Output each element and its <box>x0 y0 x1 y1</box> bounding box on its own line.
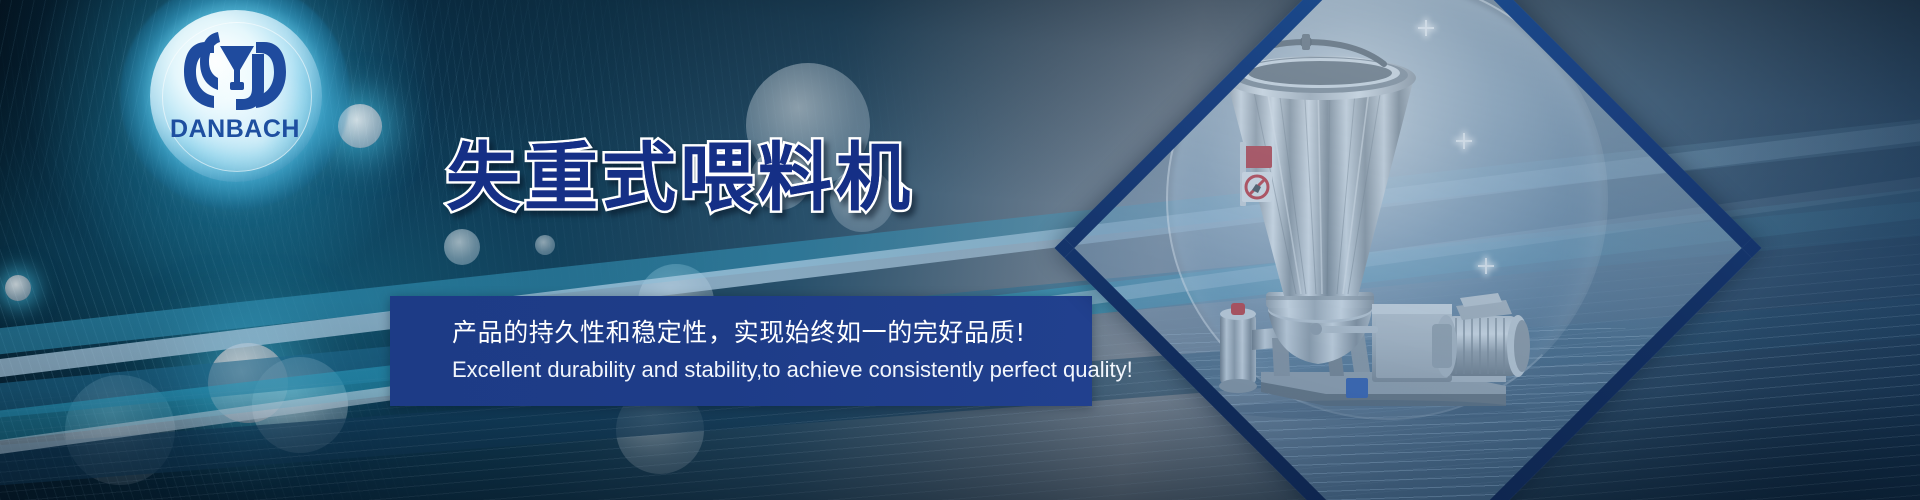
brand-wordmark: DANBACH <box>168 115 302 144</box>
danbach-sphere-logo-icon <box>168 20 302 120</box>
page-title: 失重式喂料机 失重式喂料机 <box>446 118 914 225</box>
product-banner: DANBACH 失重式喂料机 失重式喂料机 产品的持久性和稳定性，实现始终如一的… <box>0 0 1920 500</box>
bokeh-circle <box>252 357 348 453</box>
diamond-frame <box>1054 0 1761 500</box>
tagline-chinese: 产品的持久性和稳定性，实现始终如一的完好品质! <box>452 313 1026 349</box>
page-title-fill: 失重式喂料机 <box>446 118 914 225</box>
brand-logo[interactable]: DANBACH <box>168 20 302 172</box>
product-showcase <box>1088 0 1728 500</box>
bokeh-circle <box>535 235 555 255</box>
bokeh-circle <box>208 343 288 423</box>
tagline-english: Excellent durability and stability,to ac… <box>452 357 1133 383</box>
bokeh-circle <box>444 229 480 265</box>
bokeh-circle <box>65 375 175 485</box>
bokeh-circle <box>5 275 31 301</box>
tagline-panel: 产品的持久性和稳定性，实现始终如一的完好品质! Excellent durabi… <box>390 296 1092 406</box>
